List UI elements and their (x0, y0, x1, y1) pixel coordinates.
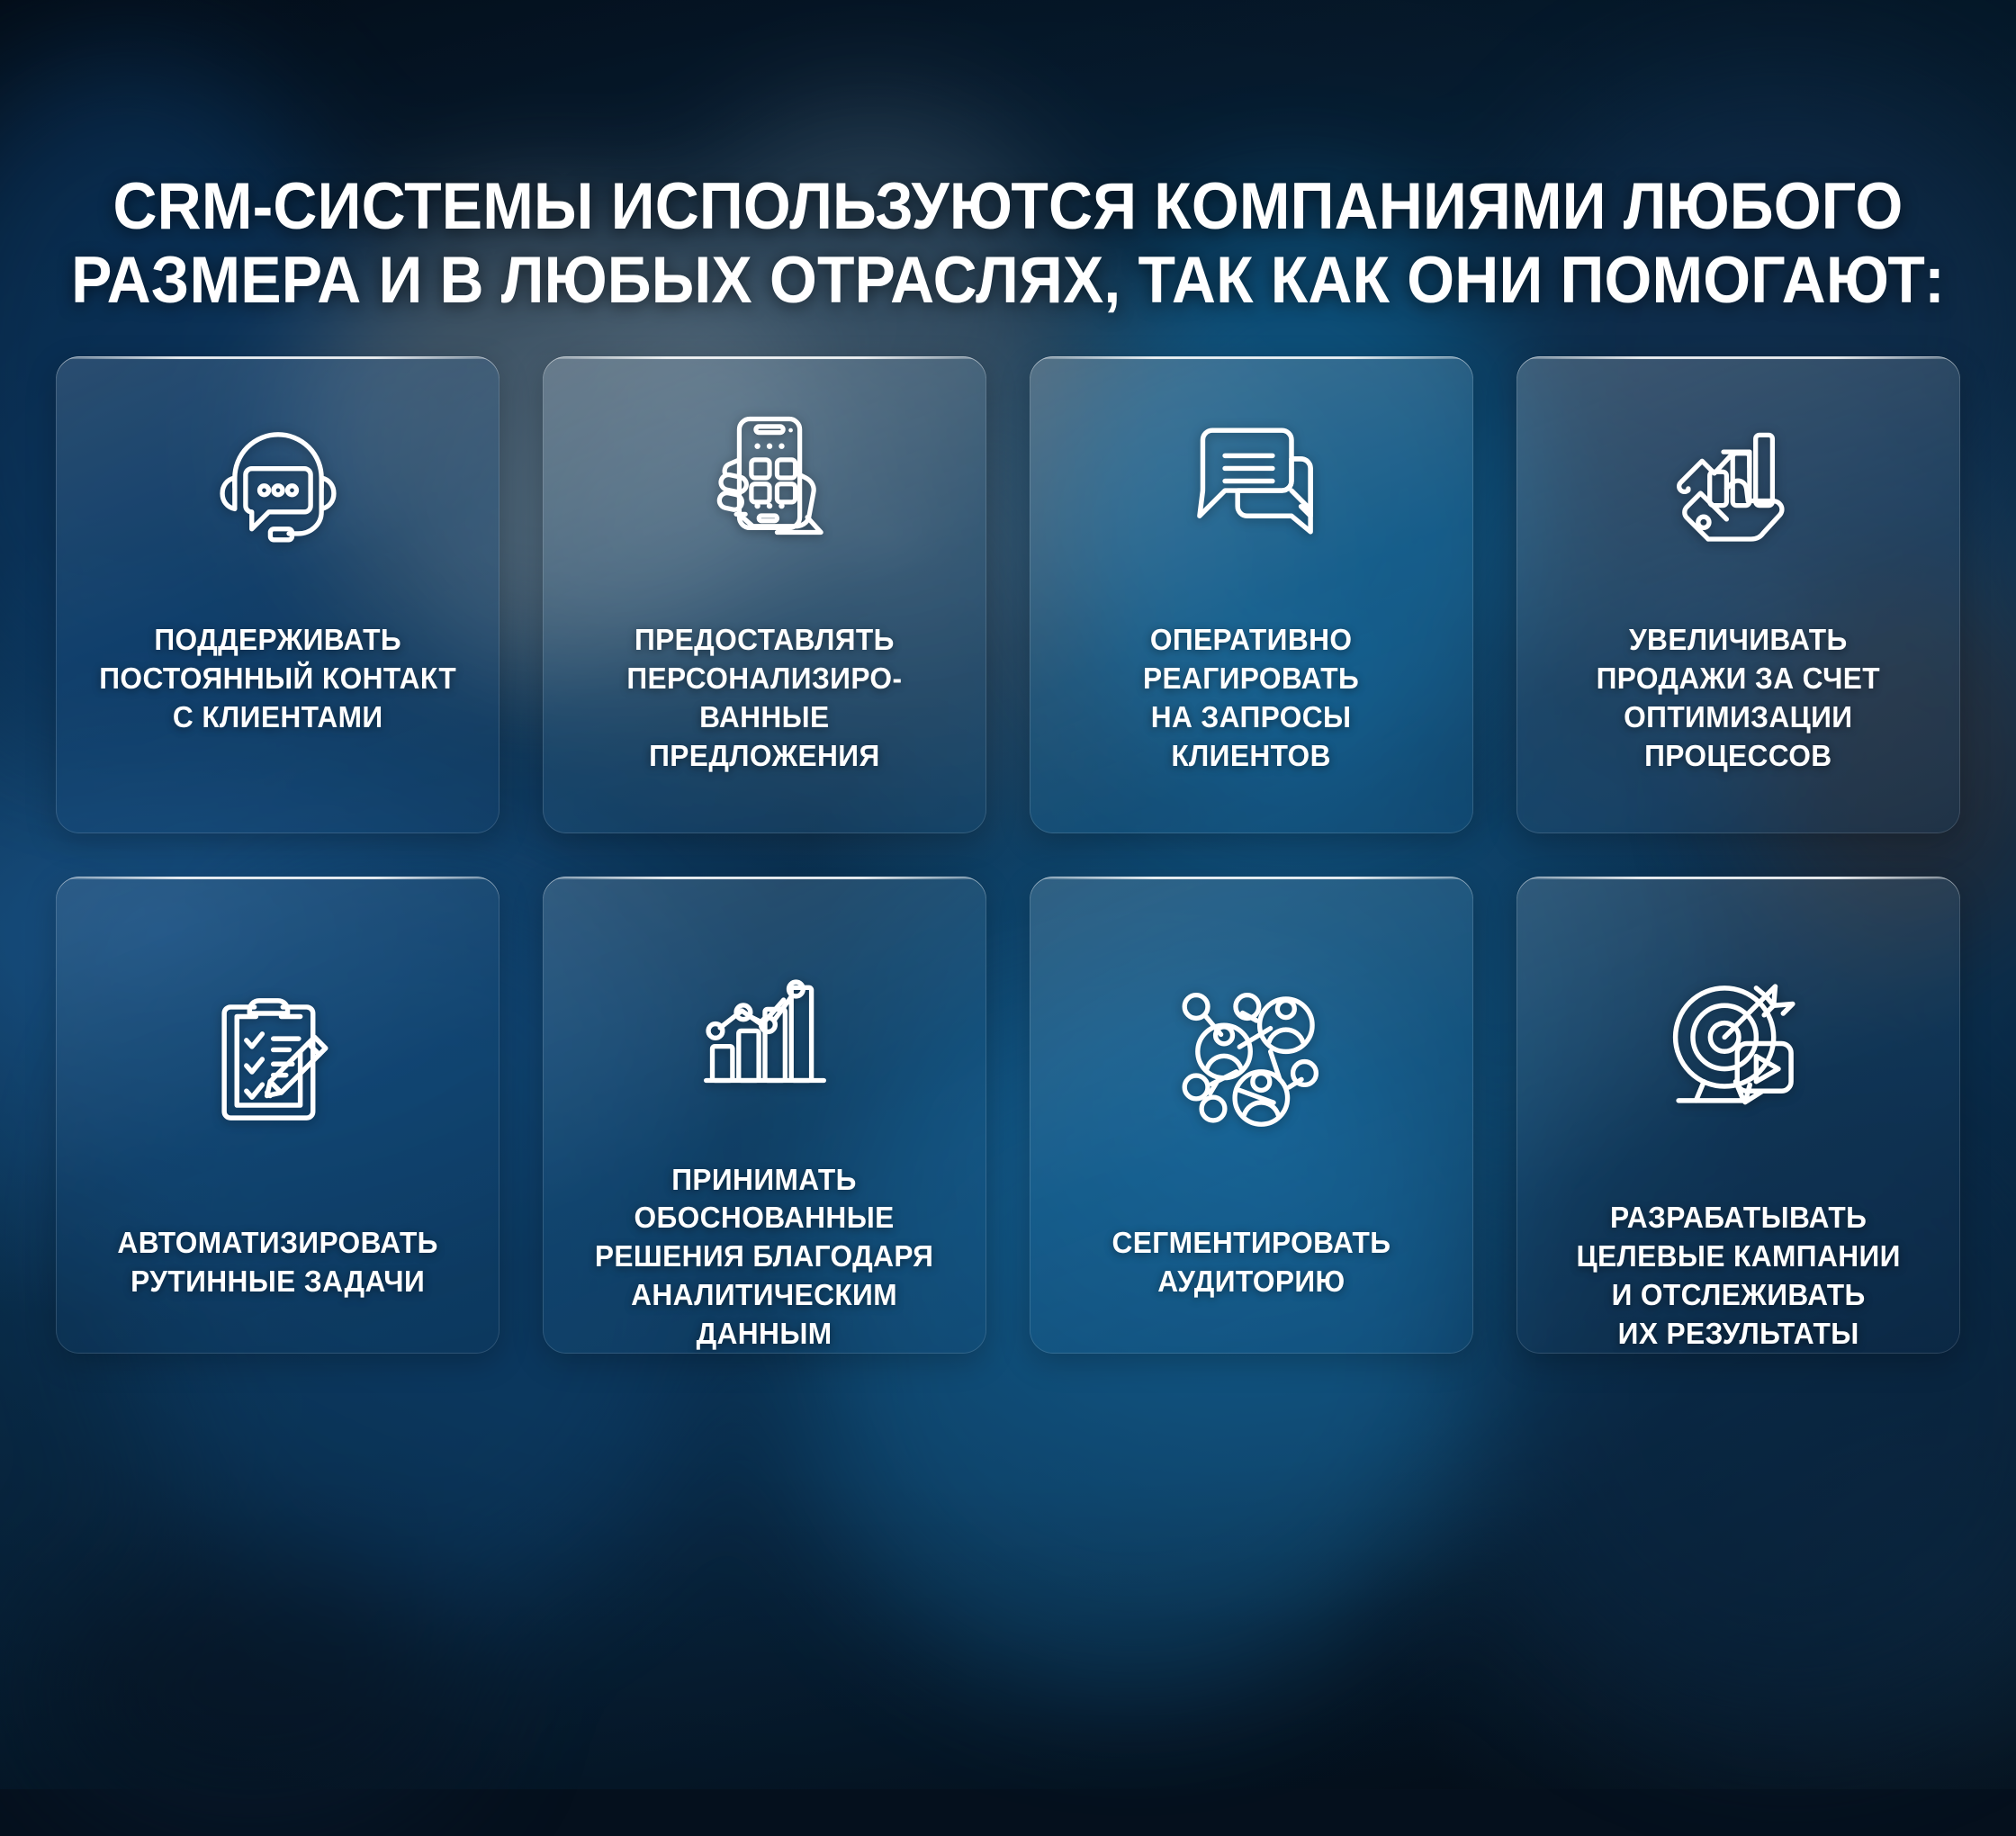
hand-smartphone-icon (543, 374, 986, 581)
benefit-card-label: СЕГМЕНТИРОВАТЬ АУДИТОРИЮ (1096, 1224, 1407, 1301)
benefit-card-support[interactable]: ПОДДЕРЖИВАТЬ ПОСТОЯННЫЙ КОНТАКТ С КЛИЕНТ… (56, 356, 499, 833)
benefit-card-automate-tasks[interactable]: АВТОМАТИЗИРОВАТЬ РУТИННЫЕ ЗАДАЧИ (56, 877, 499, 1354)
target-arrow-play-icon (1516, 947, 1960, 1147)
headset-chat-icon (56, 374, 499, 581)
chat-bubbles-icon (1030, 374, 1473, 581)
benefit-card-label: ОПЕРАТИВНО РЕАГИРОВАТЬ НА ЗАПРОСЫ КЛИЕНТ… (1128, 621, 1375, 776)
page-title-line-2: РАЗМЕРА И В ЛЮБЫХ ОТРАСЛЯХ, ТАК КАК ОНИ … (70, 244, 1945, 318)
benefit-card-increase-sales[interactable]: УВЕЛИЧИВАТЬ ПРОДАЖИ ЗА СЧЕТ ОПТИМИЗАЦИИ … (1516, 356, 1960, 833)
benefit-card-fast-response[interactable]: ОПЕРАТИВНО РЕАГИРОВАТЬ НА ЗАПРОСЫ КЛИЕНТ… (1030, 356, 1473, 833)
benefit-card-segment-audience[interactable]: СЕГМЕНТИРОВАТЬ АУДИТОРИЮ (1030, 877, 1473, 1354)
benefit-card-label: ПРИНИМАТЬ ОБОСНОВАННЫЕ РЕШЕНИЯ БЛАГОДАРЯ… (580, 1161, 949, 1354)
page-title-line-1: CRM-СИСТЕМЫ ИСПОЛЬЗУЮТСЯ КОМПАНИЯМИ ЛЮБО… (70, 170, 1945, 244)
hand-growth-chart-icon (1516, 374, 1960, 581)
page-title: CRM-СИСТЕМЫ ИСПОЛЬЗУЮТСЯ КОМПАНИЯМИ ЛЮБО… (70, 170, 1945, 318)
benefit-card-target-campaigns[interactable]: РАЗРАБАТЫВАТЬ ЦЕЛЕВЫЕ КАМПАНИИ И ОТСЛЕЖИ… (1516, 877, 1960, 1354)
benefit-card-personalized-offers[interactable]: ПРЕДОСТАВЛЯТЬ ПЕРСОНАЛИЗИРО- ВАННЫЕ ПРЕД… (543, 356, 986, 833)
benefit-card-grid: ПОДДЕРЖИВАТЬ ПОСТОЯННЫЙ КОНТАКТ С КЛИЕНТ… (56, 356, 1960, 1354)
benefit-card-label: АВТОМАТИЗИРОВАТЬ РУТИННЫЕ ЗАДАЧИ (102, 1224, 454, 1301)
user-network-icon (1030, 947, 1473, 1172)
benefit-card-label: РАЗРАБАТЫВАТЬ ЦЕЛЕВЫЕ КАМПАНИИ И ОТСЛЕЖИ… (1561, 1199, 1916, 1354)
benefit-card-label: УВЕЛИЧИВАТЬ ПРОДАЖИ ЗА СЧЕТ ОПТИМИЗАЦИИ … (1580, 621, 1895, 776)
infographic-root: CRM-СИСТЕМЫ ИСПОЛЬЗУЮТСЯ КОМПАНИЯМИ ЛЮБО… (0, 0, 2016, 1789)
clipboard-checklist-pencil-icon (56, 947, 499, 1172)
benefit-card-data-decisions[interactable]: ПРИНИМАТЬ ОБОСНОВАННЫЕ РЕШЕНИЯ БЛАГОДАРЯ… (543, 877, 986, 1354)
benefit-card-label: ПОДДЕРЖИВАТЬ ПОСТОЯННЫЙ КОНТАКТ С КЛИЕНТ… (84, 621, 472, 737)
bar-chart-trend-icon (543, 947, 986, 1109)
benefit-card-label: ПРЕДОСТАВЛЯТЬ ПЕРСОНАЛИЗИРО- ВАННЫЕ ПРЕД… (611, 621, 918, 776)
